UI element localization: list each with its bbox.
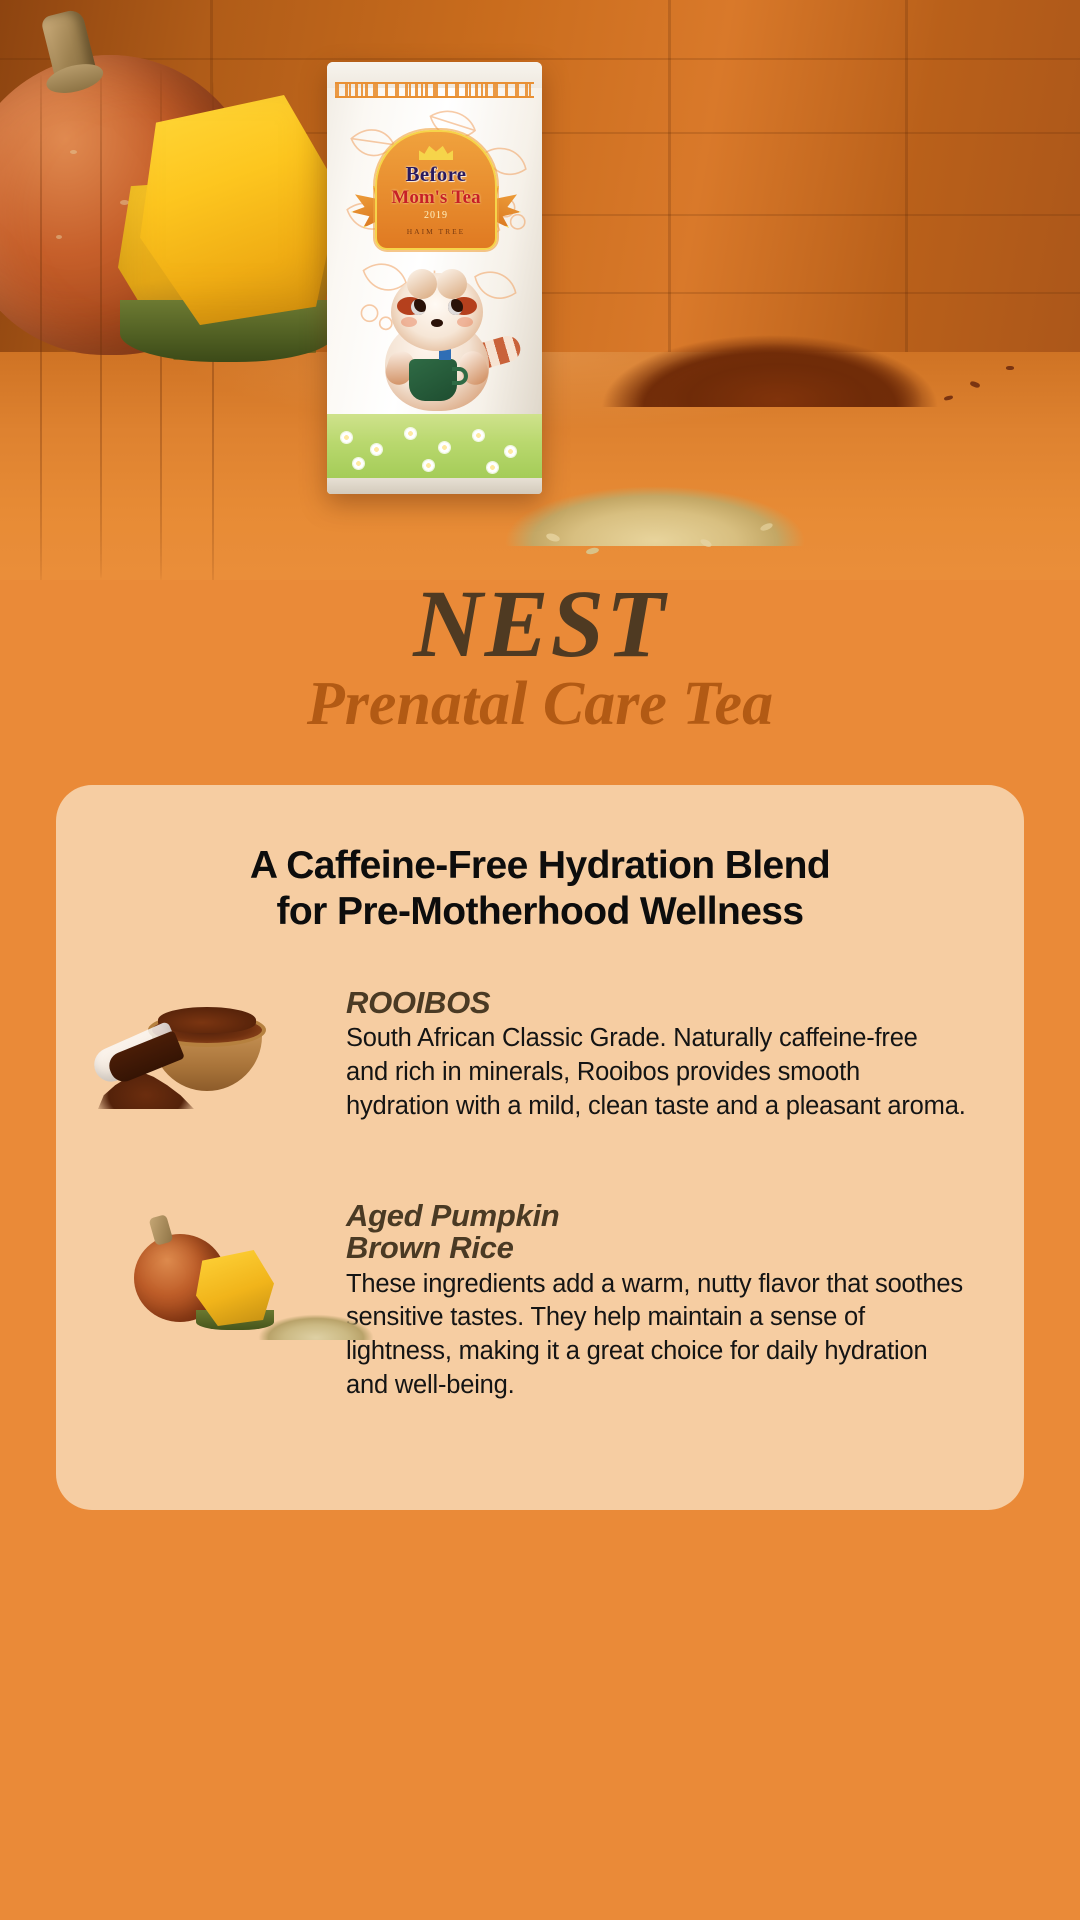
ingredient-body-pumpkin-rice: These ingredients add a warm, nutty flav…: [346, 1268, 966, 1404]
tin-grass-band: [327, 414, 542, 478]
hero-product-photo: Before Mom's Tea 2019 HAIM TREE: [0, 0, 1080, 580]
card-headline-line2: for Pre-Motherhood Wellness: [56, 889, 1024, 935]
ingredient-title-pumpkin-rice: Aged Pumpkin Brown Rice: [346, 1200, 966, 1264]
product-title-block: NEST Prenatal Care Tea: [0, 575, 1080, 740]
card-headline-line1: A Caffeine-Free Hydration Blend: [56, 843, 1024, 889]
tin-brand-top: Before: [375, 162, 497, 187]
tin-year: 2019: [375, 210, 497, 221]
ingredient-title-line2: Brown Rice: [346, 1232, 966, 1264]
page-title: NEST: [0, 575, 1080, 673]
tin-label-badge: Before Mom's Tea 2019 HAIM TREE: [375, 130, 497, 250]
ingredient-title-rooibos: ROOIBOS: [346, 987, 966, 1019]
ingredient-body-rooibos: South African Classic Grade. Naturally c…: [346, 1022, 966, 1124]
pumpkin-rice-icon: [56, 1200, 346, 1375]
tin-brand-main: Mom's Tea: [375, 187, 497, 209]
card-headline: A Caffeine-Free Hydration Blend for Pre-…: [56, 843, 1024, 935]
ingredient-title-line1: Aged Pumpkin: [346, 1200, 966, 1232]
tea-tin-icon: Before Mom's Tea 2019 HAIM TREE: [327, 62, 542, 494]
page-subtitle: Prenatal Care Tea: [0, 669, 1080, 740]
tin-maker: HAIM TREE: [375, 227, 497, 236]
info-card: A Caffeine-Free Hydration Blend for Pre-…: [56, 785, 1024, 1510]
rooibos-bowl-icon: [56, 987, 346, 1162]
ingredient-item-rooibos: ROOIBOS South African Classic Grade. Nat…: [56, 987, 1024, 1162]
red-panda-mascot-icon: [367, 267, 507, 417]
ingredient-item-pumpkin-rice: Aged Pumpkin Brown Rice These ingredient…: [56, 1200, 1024, 1403]
